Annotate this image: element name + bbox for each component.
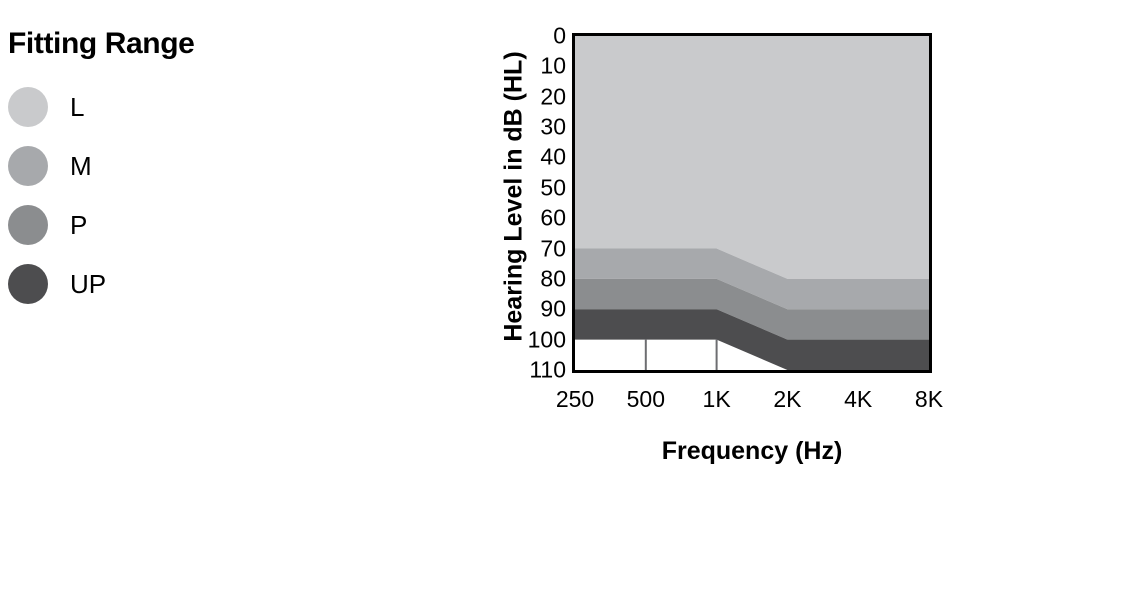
legend-item-label: UP [70, 271, 106, 297]
y-tick-label: 50 [500, 176, 566, 199]
y-tick-label: 90 [500, 298, 566, 321]
x-tick-label: 1K [703, 388, 731, 411]
x-tick-label: 4K [844, 388, 872, 411]
area-band-l [575, 36, 929, 279]
x-axis-title: Frequency (Hz) [572, 437, 932, 466]
legend-title: Fitting Range [8, 28, 308, 60]
y-tick-label: 0 [500, 25, 566, 48]
y-axis-tick-labels: 0102030405060708090100110 [500, 33, 566, 373]
area-bands-svg [575, 36, 929, 370]
y-tick-label: 60 [500, 207, 566, 230]
x-tick-label: 500 [627, 388, 665, 411]
plot-area [572, 33, 932, 373]
legend-item-p: P [8, 196, 308, 255]
y-tick-label: 70 [500, 237, 566, 260]
y-tick-label: 20 [500, 85, 566, 108]
circle-icon [8, 205, 48, 245]
y-tick-label: 10 [500, 55, 566, 78]
x-axis-tick-labels: 2505001K2K4K8K [572, 388, 932, 418]
legend-item-up: UP [8, 255, 308, 314]
circle-icon [8, 87, 48, 127]
x-tick-label: 2K [773, 388, 801, 411]
legend-item-label: L [70, 94, 84, 120]
legend-item-m: M [8, 137, 308, 196]
legend-item-l: L [8, 78, 308, 137]
circle-icon [8, 146, 48, 186]
fitting-range-chart: Hearing Level in dB (HL) 010203040506070… [440, 0, 1000, 500]
legend-item-label: M [70, 153, 92, 179]
x-tick-label: 250 [556, 388, 594, 411]
legend-item-label: P [70, 212, 87, 238]
y-tick-label: 110 [500, 359, 566, 382]
y-tick-label: 80 [500, 267, 566, 290]
circle-icon [8, 264, 48, 304]
y-tick-label: 100 [500, 328, 566, 351]
x-tick-label: 8K [915, 388, 943, 411]
y-tick-label: 40 [500, 146, 566, 169]
y-tick-label: 30 [500, 116, 566, 139]
fitting-range-legend: Fitting Range L M P UP [8, 28, 308, 314]
